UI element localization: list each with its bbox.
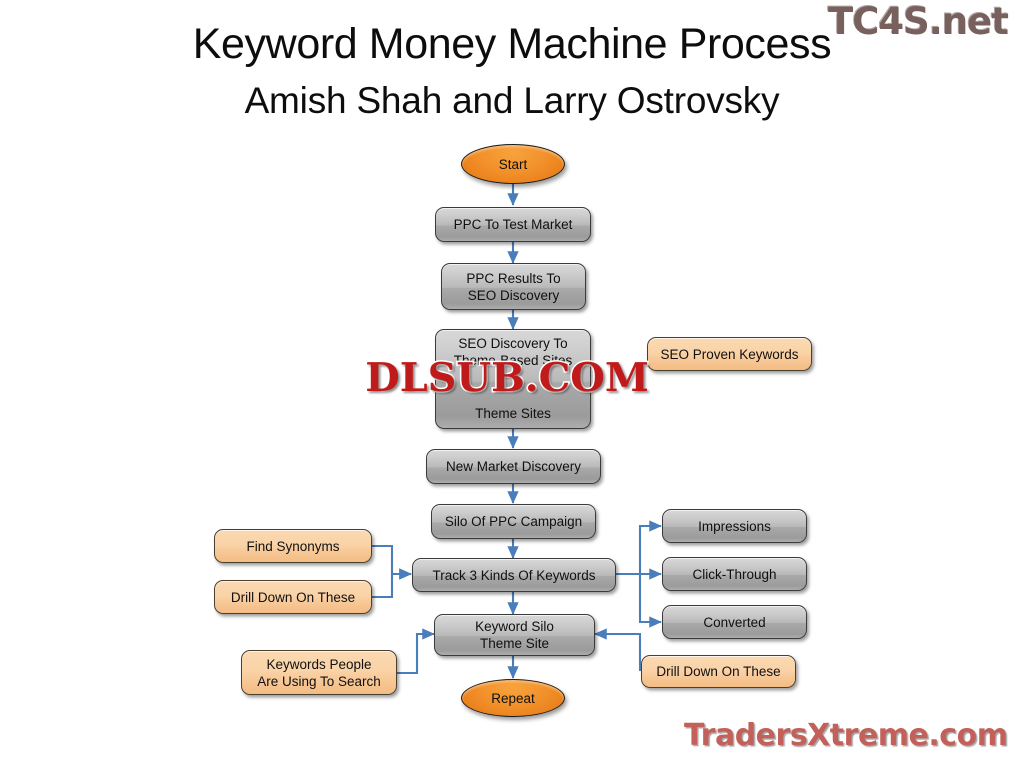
node-drill-down-on-these-right[interactable]: Drill Down On These xyxy=(641,655,796,688)
node-start[interactable]: Start xyxy=(461,144,565,184)
connector-group xyxy=(371,184,661,678)
node-converted-label: Converted xyxy=(669,614,800,631)
node-silo-of-ppc-campaign[interactable]: Silo Of PPC Campaign xyxy=(431,504,596,539)
node-seo-discovery-line3: Theme Sites xyxy=(442,405,584,422)
node-ppc-to-test-market-label: PPC To Test Market xyxy=(442,216,584,233)
node-keywords-people-line1: Keywords People xyxy=(248,656,390,673)
node-ppc-to-test-market[interactable]: PPC To Test Market xyxy=(435,207,591,242)
node-find-synonyms[interactable]: Find Synonyms xyxy=(214,529,372,563)
watermark-tradersxtreme: TradersXtreme.com xyxy=(684,719,1007,753)
node-keyword-silo-theme-site[interactable]: Keyword Silo Theme Site xyxy=(434,614,595,656)
node-keywords-people-line2: Are Using To Search xyxy=(248,673,390,690)
node-ppc-results-line2: SEO Discovery xyxy=(448,287,579,304)
node-track-3-kinds-of-keywords[interactable]: Track 3 Kinds Of Keywords xyxy=(412,558,616,592)
watermark-tc4s: TC4S.net xyxy=(828,2,1008,42)
node-start-label: Start xyxy=(468,156,558,173)
node-seo-proven-keywords[interactable]: SEO Proven Keywords xyxy=(647,337,812,371)
page-subtitle: Amish Shah and Larry Ostrovsky xyxy=(0,78,1024,124)
node-ppc-results-to-seo-discovery[interactable]: PPC Results To SEO Discovery xyxy=(441,263,586,310)
node-converted[interactable]: Converted xyxy=(662,605,807,639)
node-ppc-results-line1: PPC Results To xyxy=(448,270,579,287)
node-repeat-label: Repeat xyxy=(468,690,558,707)
slide-canvas: Keyword Money Machine Process Amish Shah… xyxy=(0,0,1024,768)
node-keywords-people-are-using-to-search[interactable]: Keywords People Are Using To Search xyxy=(241,650,397,695)
node-impressions-label: Impressions xyxy=(669,518,800,535)
node-find-synonyms-label: Find Synonyms xyxy=(221,538,365,555)
edge-drill-left-to-track3 xyxy=(371,574,411,597)
node-keyword-silo-line2: Theme Site xyxy=(441,635,588,652)
node-drill-down-on-these-right-label: Drill Down On These xyxy=(648,663,789,680)
node-repeat[interactable]: Repeat xyxy=(461,679,565,717)
watermark-dlsub: DLSUB.COM xyxy=(365,357,649,399)
node-silo-of-ppc-campaign-label: Silo Of PPC Campaign xyxy=(438,513,589,530)
node-new-market-discovery-label: New Market Discovery xyxy=(433,458,594,475)
node-drill-down-on-these-left[interactable]: Drill Down On These xyxy=(214,580,372,614)
edge-find-synonyms-to-track3 xyxy=(371,546,411,574)
edge-track3-to-impressions xyxy=(616,526,661,574)
node-seo-proven-keywords-label: SEO Proven Keywords xyxy=(654,346,805,363)
edge-track3-to-converted xyxy=(616,574,661,622)
node-drill-down-on-these-left-label: Drill Down On These xyxy=(221,589,365,606)
node-impressions[interactable]: Impressions xyxy=(662,509,807,543)
node-keyword-silo-line1: Keyword Silo xyxy=(441,618,588,635)
edge-drill-right-to-kw-silo xyxy=(595,634,640,671)
edge-kw-people-to-kw-silo xyxy=(397,634,434,673)
node-click-through-label: Click-Through xyxy=(669,566,800,583)
node-track-3-kinds-of-keywords-label: Track 3 Kinds Of Keywords xyxy=(419,567,609,584)
node-new-market-discovery[interactable]: New Market Discovery xyxy=(426,449,601,484)
node-seo-discovery-line1: SEO Discovery To xyxy=(442,335,584,352)
node-click-through[interactable]: Click-Through xyxy=(662,557,807,591)
